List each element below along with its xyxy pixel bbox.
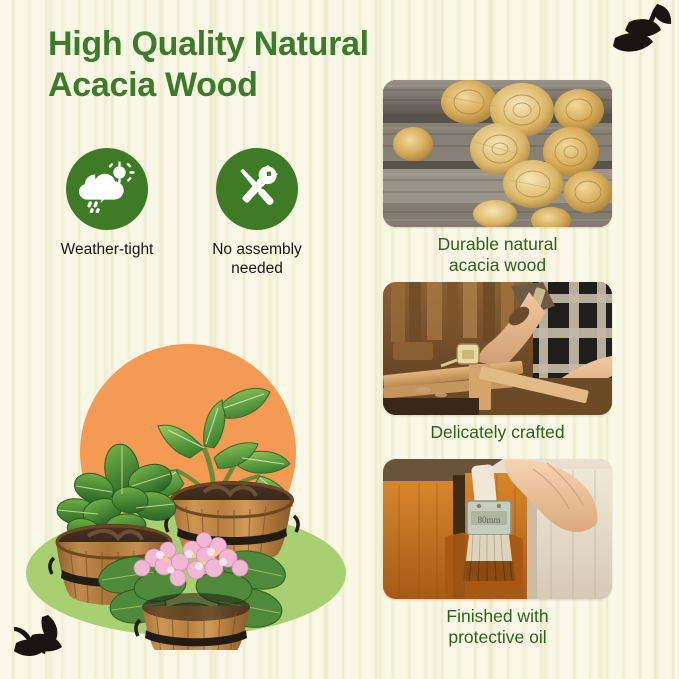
feature-weather-tight-label: Weather-tight [61, 241, 154, 260]
leaf-sprig-top-right-icon [599, 2, 673, 66]
photo-caption-protective-oil: Finished with protective oil [383, 606, 612, 649]
photo-card-delicately-crafted: Delicately crafted [383, 282, 612, 443]
no-assembly-badge [216, 148, 298, 230]
stacked-cut-logs-photo [383, 80, 612, 227]
carpenter-crafting-wood-photo [383, 282, 612, 415]
wrench-screwdriver-icon [230, 160, 284, 219]
photo-caption-durable-wood: Durable natural acacia wood [383, 234, 612, 277]
caption-line-1: Finished with [383, 606, 612, 627]
photo-caption-delicately-crafted: Delicately crafted [383, 422, 612, 443]
page-title-line-2: Acacia Wood [48, 65, 378, 106]
feature-no-assembly: No assembly needed [198, 148, 316, 278]
photo-card-durable-wood: Durable natural acacia wood [383, 80, 612, 277]
infographic-canvas: High Quality Natural Acacia Wood [0, 0, 679, 679]
caption-line-1: Durable natural [383, 234, 612, 255]
feature-badge-list: Weather-tight [48, 148, 316, 278]
caption-line-2: protective oil [383, 627, 612, 648]
feature-weather-tight: Weather-tight [48, 148, 166, 278]
page-title-line-1: High Quality Natural [48, 24, 378, 65]
weather-storm-icon [79, 161, 135, 218]
weather-tight-badge [66, 148, 148, 230]
caption-line-2: acacia wood [383, 255, 612, 276]
brush-applying-oil-to-decking-photo: 80mm [383, 459, 612, 599]
photo-card-protective-oil: 80mm Finished with protective oil [383, 459, 612, 649]
barrel-planters-illustration [18, 330, 368, 650]
page-title: High Quality Natural Acacia Wood [48, 24, 378, 107]
caption-line-1: Delicately crafted [383, 422, 612, 443]
brush-ferrule-label: 80mm [477, 515, 500, 525]
product-hero [18, 330, 368, 650]
feature-no-assembly-label: No assembly needed [198, 241, 316, 278]
